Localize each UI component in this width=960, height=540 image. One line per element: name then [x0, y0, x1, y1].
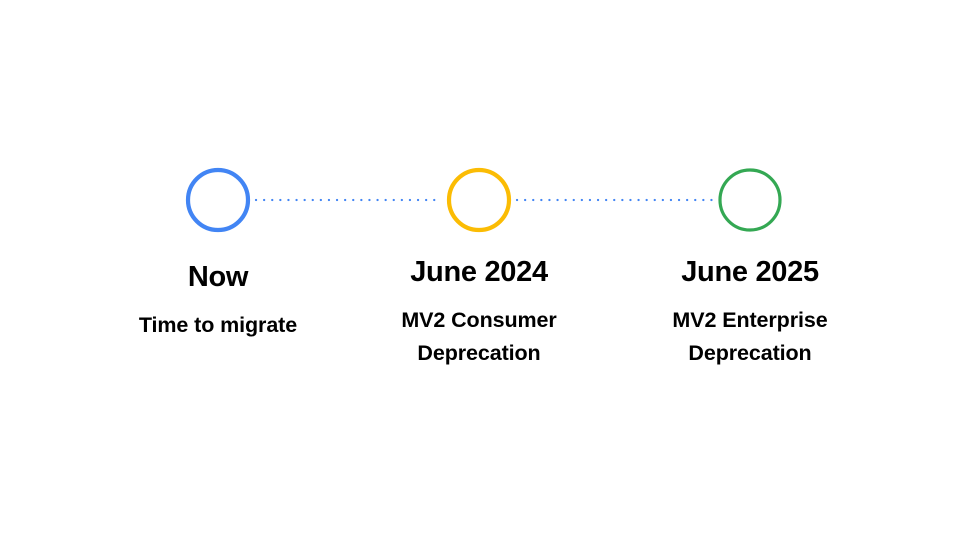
milestone-june-2025-description: MV2 Enterprise Deprecation	[630, 304, 870, 369]
milestone-june-2024: June 2024 MV2 Consumer Deprecation	[359, 258, 599, 369]
timeline-figure: Now Time to migrate June 2024 MV2 Consum…	[0, 0, 960, 540]
milestone-now-title: Now	[98, 263, 338, 292]
milestone-june-2024-description-line-1: MV2 Consumer	[359, 304, 599, 337]
milestone-june-2025-description-line-1: MV2 Enterprise	[630, 304, 870, 337]
milestone-now-description: Time to migrate	[98, 309, 338, 342]
milestone-june-2024-description-line-2: Deprecation	[359, 337, 599, 370]
milestone-june-2024-description: MV2 Consumer Deprecation	[359, 304, 599, 369]
milestone-june-2025: June 2025 MV2 Enterprise Deprecation	[630, 258, 870, 369]
milestone-june-2025-description-line-2: Deprecation	[630, 337, 870, 370]
milestone-june-2024-title: June 2024	[359, 258, 599, 287]
milestone-now-description-line-1: Time to migrate	[98, 309, 338, 342]
milestone-labels: Now Time to migrate June 2024 MV2 Consum…	[0, 0, 960, 540]
milestone-now: Now Time to migrate	[98, 258, 338, 342]
milestone-june-2025-title: June 2025	[630, 258, 870, 287]
